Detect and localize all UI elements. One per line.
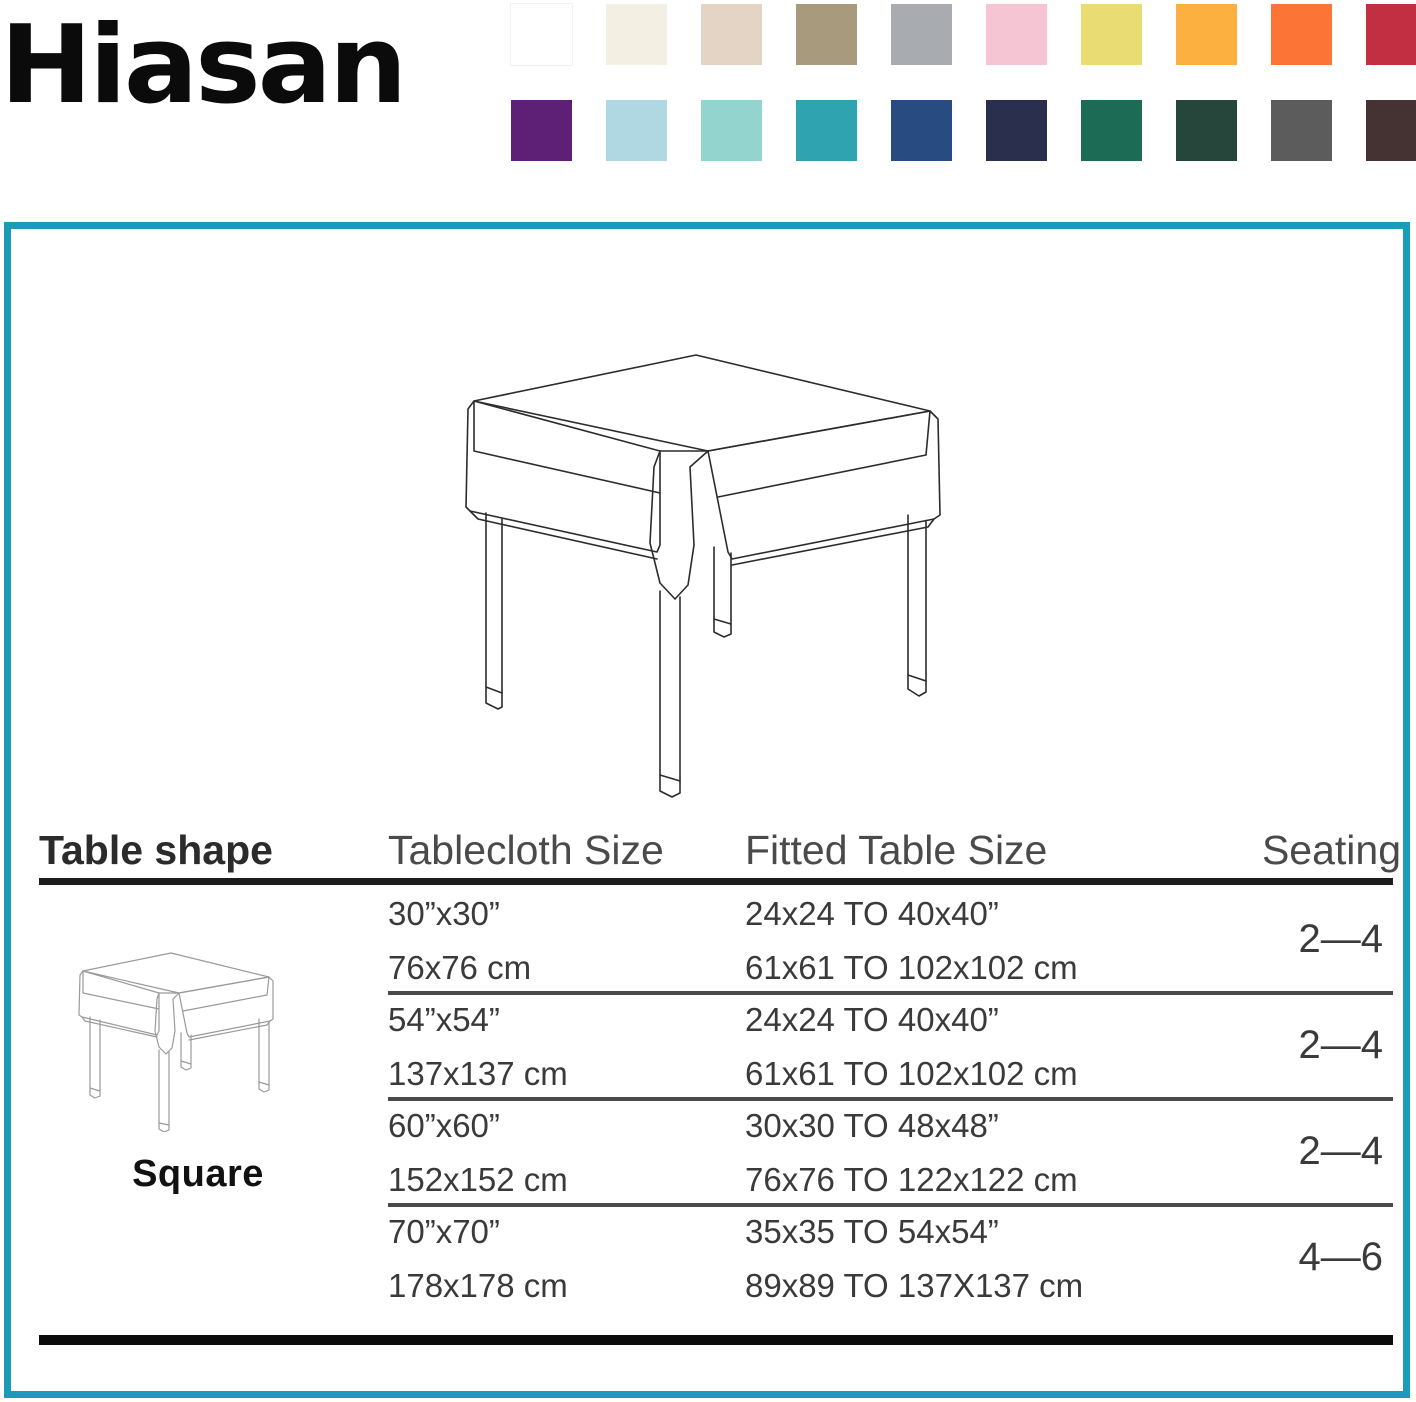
cell-fitted-cm: 61x61 TO 102x102 cm — [745, 1057, 1078, 1090]
square-table-with-tablecloth-illustration — [432, 347, 972, 807]
cell-fitted-cm: 89x89 TO 137X137 cm — [745, 1269, 1083, 1302]
size-chart-header-row: Table shape Tablecloth Size Fitted Table… — [33, 809, 1401, 871]
color-swatch-light-blue[interactable] — [606, 100, 667, 161]
swatch-row-1 — [511, 4, 1411, 66]
table-footer-divider — [39, 1335, 1393, 1345]
column-header-tablecloth-size: Tablecloth Size — [388, 830, 664, 871]
color-swatch-aqua[interactable] — [701, 100, 762, 161]
color-swatch-dark-gray[interactable] — [1271, 100, 1332, 161]
column-header-table-shape: Table shape — [39, 830, 273, 871]
header-divider — [39, 878, 1393, 885]
cell-seating: 2—4 — [1299, 919, 1384, 959]
size-chart-body: 30”x30” 76x76 cm 24x24 TO 40x40” 61x61 T… — [33, 889, 1401, 1313]
cell-tablecloth-inches: 70”x70” — [388, 1215, 500, 1248]
brand-wordmark-text: Hiasan — [0, 12, 404, 120]
color-swatch-navy-blue[interactable] — [891, 100, 952, 161]
color-swatch-grid — [511, 4, 1411, 164]
color-swatch-beige[interactable] — [701, 4, 762, 65]
color-swatch-orange[interactable] — [1271, 4, 1332, 65]
size-chart-table: Table shape Tablecloth Size Fitted Table… — [33, 809, 1401, 1351]
color-swatch-gray[interactable] — [891, 4, 952, 65]
cell-seating: 4—6 — [1299, 1237, 1384, 1277]
cell-fitted-cm: 61x61 TO 102x102 cm — [745, 951, 1078, 984]
color-swatch-dark-green[interactable] — [1176, 100, 1237, 161]
color-swatch-red[interactable] — [1366, 4, 1416, 65]
color-swatch-purple[interactable] — [511, 100, 572, 161]
color-swatch-white[interactable] — [511, 4, 572, 65]
table-row: 60”x60” 152x152 cm 30x30 TO 48x48” 76x76… — [33, 1101, 1401, 1207]
column-header-seating: Seating — [1262, 830, 1401, 871]
table-row: 70”x70” 178x178 cm 35x35 TO 54x54” 89x89… — [33, 1207, 1401, 1313]
cell-tablecloth-inches: 60”x60” — [388, 1109, 500, 1142]
cell-tablecloth-cm: 152x152 cm — [388, 1163, 568, 1196]
cell-tablecloth-cm: 178x178 cm — [388, 1269, 568, 1302]
cell-tablecloth-inches: 30”x30” — [388, 897, 500, 930]
color-swatch-yellow[interactable] — [1081, 4, 1142, 65]
cell-tablecloth-cm: 137x137 cm — [388, 1057, 568, 1090]
color-swatch-ivory[interactable] — [606, 4, 667, 65]
column-header-fitted-table-size: Fitted Table Size — [745, 830, 1047, 871]
color-swatch-green[interactable] — [1081, 100, 1142, 161]
cell-seating: 2—4 — [1299, 1025, 1384, 1065]
cell-tablecloth-cm: 76x76 cm — [388, 951, 531, 984]
color-swatch-dark-brown[interactable] — [1366, 100, 1416, 161]
cell-tablecloth-inches: 54”x54” — [388, 1003, 500, 1036]
table-row: 54”x54” 137x137 cm 24x24 TO 40x40” 61x61… — [33, 995, 1401, 1101]
color-swatch-teal[interactable] — [796, 100, 857, 161]
color-swatch-dark-navy[interactable] — [986, 100, 1047, 161]
swatch-row-2 — [511, 100, 1411, 162]
brand-logo: Hiasan — [0, 6, 470, 126]
product-size-chart-page: Hiasan — [0, 0, 1416, 1402]
cell-seating: 2—4 — [1299, 1131, 1384, 1171]
cell-fitted-inches: 24x24 TO 40x40” — [745, 897, 999, 930]
table-row: 30”x30” 76x76 cm 24x24 TO 40x40” 61x61 T… — [33, 889, 1401, 995]
cell-fitted-inches: 35x35 TO 54x54” — [745, 1215, 999, 1248]
spec-panel-frame: Square Table shape Tablecloth Size Fitte… — [4, 222, 1410, 1398]
color-swatch-pink[interactable] — [986, 4, 1047, 65]
color-swatch-amber[interactable] — [1176, 4, 1237, 65]
cell-fitted-inches: 24x24 TO 40x40” — [745, 1003, 999, 1036]
cell-fitted-cm: 76x76 TO 122x122 cm — [745, 1163, 1078, 1196]
color-swatch-taupe[interactable] — [796, 4, 857, 65]
cell-fitted-inches: 30x30 TO 48x48” — [745, 1109, 999, 1142]
